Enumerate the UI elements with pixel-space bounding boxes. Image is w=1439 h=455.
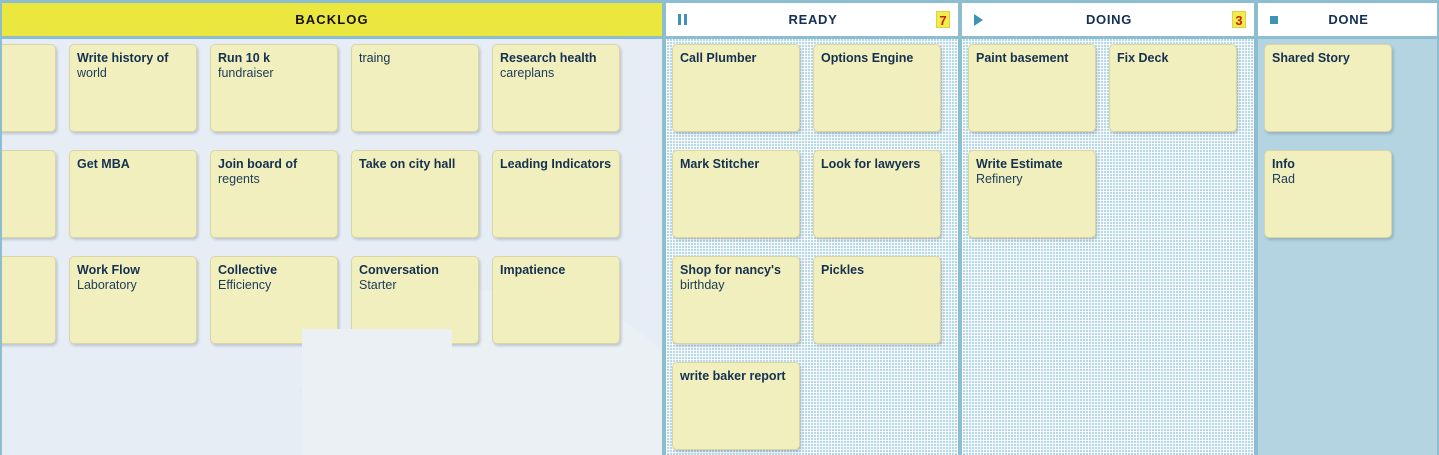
card-title: Conversation <box>359 263 471 277</box>
card-title: Impatience <box>500 263 612 277</box>
card[interactable]: Impatience <box>492 256 620 344</box>
card-title: Mark Stitcher <box>680 157 792 171</box>
card-title: Shop for nancy's <box>680 263 792 277</box>
card-title: Research health <box>500 51 612 65</box>
card-title: Collective <box>218 263 330 277</box>
column-body-backlog[interactable]: ndonWrite history ofworldRun 10 kfundrai… <box>2 39 662 455</box>
card[interactable]: Mark Stitcher <box>672 150 800 238</box>
card-title: Call Plumber <box>680 51 792 65</box>
card[interactable]: Options Engine <box>813 44 941 132</box>
column-body-done[interactable]: Shared StoryInfoRad <box>1258 39 1437 455</box>
card-subtitle: birthday <box>680 278 792 292</box>
card-subtitle: careplans <box>500 66 612 80</box>
column-title-backlog: BACKLOG <box>2 12 662 27</box>
wip-badge-doing: 3 <box>1232 11 1246 28</box>
card-title: Take on city hall <box>359 157 471 171</box>
card-title: Get MBA <box>77 157 189 171</box>
watermark-decoration <box>298 317 446 455</box>
card-subtitle: world <box>77 66 189 80</box>
card[interactable]: Leading Indicators <box>492 150 620 238</box>
card[interactable]: Shop for nancy'sbirthday <box>672 256 800 344</box>
card[interactable]: Look for lawyers <box>813 150 941 238</box>
column-doing: DOING3Paint basementFix DeckWrite Estima… <box>960 0 1256 455</box>
card-title: Pickles <box>821 263 933 277</box>
card-title: Run 10 k <box>218 51 330 65</box>
card-title: Look for lawyers <box>821 157 933 171</box>
card-title: write baker report <box>680 369 792 383</box>
play-icon <box>970 12 986 28</box>
kanban-board: BACKLOGndonWrite history ofworldRun 10 k… <box>0 0 1439 455</box>
card-title: ndon <box>2 51 48 65</box>
pause-icon <box>674 12 690 28</box>
column-title-doing: DOING <box>986 12 1232 27</box>
card[interactable]: Pickles <box>813 256 941 344</box>
card[interactable]: Fix Deck <box>1109 44 1237 132</box>
column-header-backlog[interactable]: BACKLOG <box>2 3 662 36</box>
card[interactable]: Work FlowLaboratory <box>69 256 197 344</box>
card-title: Work Flow <box>77 263 189 277</box>
card-subtitle: Efficiency <box>218 278 330 292</box>
card[interactable]: Run 10 kfundraiser <box>210 44 338 132</box>
column-body-doing[interactable]: Paint basementFix DeckWrite EstimateRefi… <box>962 39 1254 455</box>
card[interactable]: Paint basement <box>968 44 1096 132</box>
card[interactable]: Take on city hall <box>351 150 479 238</box>
card[interactable]: Research healthcareplans <box>492 44 620 132</box>
card-title: Join board of <box>218 157 330 171</box>
card-subtitle: Rad <box>1272 172 1384 186</box>
card-subtitle: regents <box>218 172 330 186</box>
card-title: bolizer <box>2 263 48 277</box>
card[interactable]: ndon <box>2 44 56 132</box>
card-title: Fix Deck <box>1117 51 1229 65</box>
card-subtitle: Refinery <box>976 172 1088 186</box>
card[interactable]: CollectiveEfficiency <box>210 256 338 344</box>
card[interactable]: traing <box>351 44 479 132</box>
card-list-done: Shared StoryInfoRad <box>1258 39 1437 455</box>
card-list-doing: Paint basementFix DeckWrite EstimateRefi… <box>962 39 1254 455</box>
card-title: Leading Indicators <box>500 157 612 171</box>
square-icon <box>1266 12 1282 28</box>
card-list-ready: Call PlumberOptions EngineMark StitcherL… <box>666 39 958 455</box>
card[interactable]: InfoRad <box>1264 150 1392 238</box>
card-title: traing <box>359 51 471 65</box>
card-title: n and <box>2 157 48 171</box>
card-title: Paint basement <box>976 51 1088 65</box>
card-list-backlog: ndonWrite history ofworldRun 10 kfundrai… <box>2 39 662 455</box>
column-header-doing[interactable]: DOING3 <box>962 3 1254 36</box>
card[interactable]: ConversationStarter <box>351 256 479 344</box>
card-subtitle: Laboratory <box>77 278 189 292</box>
card[interactable]: Get MBA <box>69 150 197 238</box>
card-title: Write Estimate <box>976 157 1088 171</box>
card[interactable]: write baker report <box>672 362 800 450</box>
column-backlog: BACKLOGndonWrite history ofworldRun 10 k… <box>0 0 664 455</box>
column-header-done[interactable]: DONE <box>1258 3 1437 36</box>
column-title-ready: READY <box>690 12 936 27</box>
column-body-ready[interactable]: Call PlumberOptions EngineMark StitcherL… <box>666 39 958 455</box>
card[interactable]: bolizer <box>2 256 56 344</box>
card[interactable]: Write history ofworld <box>69 44 197 132</box>
card-title: Write history of <box>77 51 189 65</box>
card-title: Info <box>1272 157 1384 171</box>
card[interactable]: Shared Story <box>1264 44 1392 132</box>
card-subtitle: fundraiser <box>218 66 330 80</box>
card-title: Shared Story <box>1272 51 1384 65</box>
card[interactable]: Write EstimateRefinery <box>968 150 1096 238</box>
card[interactable]: Join board ofregents <box>210 150 338 238</box>
column-ready: READY7Call PlumberOptions EngineMark Sti… <box>664 0 960 455</box>
column-title-done: DONE <box>1282 12 1415 27</box>
card-title: Options Engine <box>821 51 933 65</box>
column-header-ready[interactable]: READY7 <box>666 3 958 36</box>
column-done: DONEShared StoryInfoRad <box>1256 0 1439 455</box>
card[interactable]: Call Plumber <box>672 44 800 132</box>
wip-badge-ready: 7 <box>936 11 950 28</box>
card-subtitle: Starter <box>359 278 471 292</box>
card[interactable]: n and <box>2 150 56 238</box>
